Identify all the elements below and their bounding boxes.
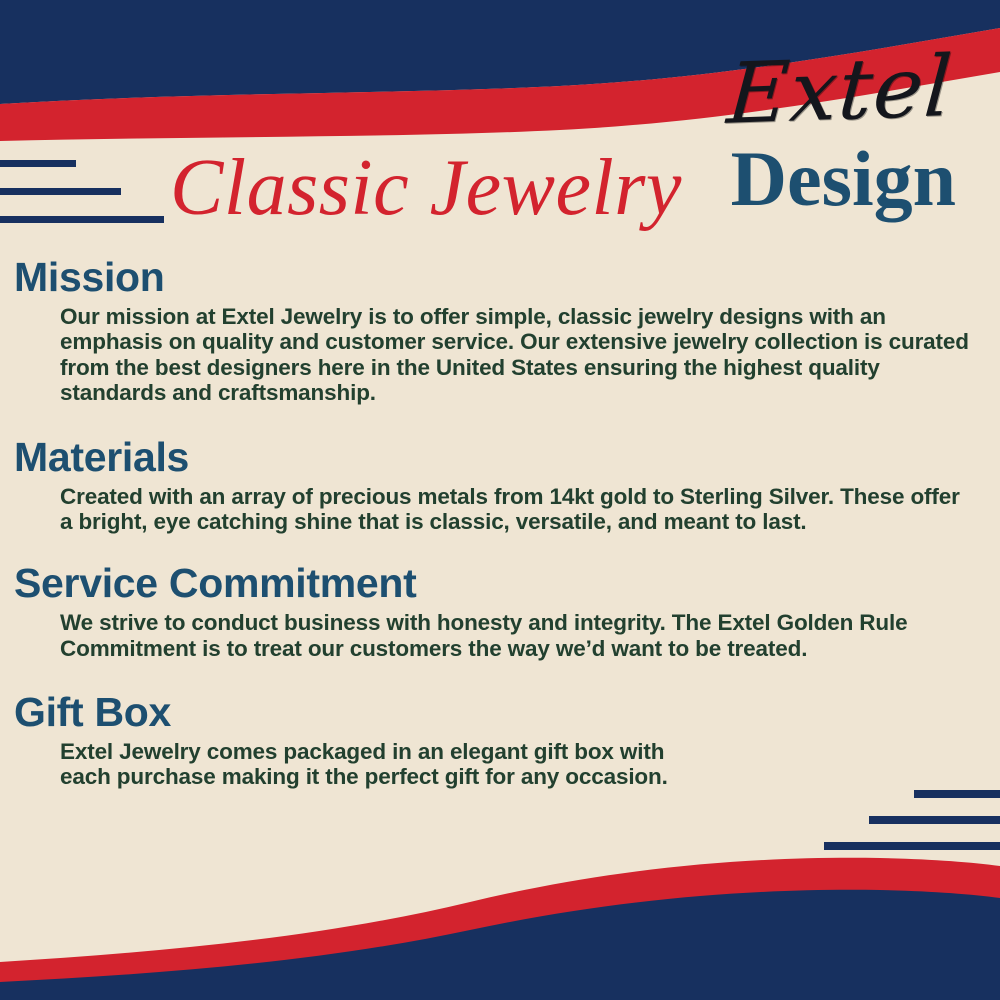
section-heading-gift-box: Gift Box [14, 690, 1000, 736]
section-heading-mission: Mission [14, 255, 1000, 301]
section-body-gift-box: Extel Jewelry comes packaged in an elega… [60, 739, 970, 790]
decorative-rule-6 [824, 842, 1000, 850]
decorative-rule-2 [0, 188, 121, 195]
poster-canvas: Extel Design Classic Jewelry Mission Our… [0, 0, 1000, 1000]
section-body-mission: Our mission at Extel Jewelry is to offer… [60, 304, 970, 406]
page-title: Classic Jewelry [170, 148, 682, 228]
section-gift-box: Gift Box Extel Jewelry comes packaged in… [0, 690, 1000, 790]
content-sections: Mission Our mission at Extel Jewelry is … [0, 255, 1000, 792]
brand-script-logo: Extel [725, 44, 956, 136]
section-heading-service-commitment: Service Commitment [14, 561, 1000, 607]
section-materials: Materials Created with an array of preci… [0, 435, 1000, 535]
section-heading-materials: Materials [14, 435, 1000, 481]
section-body-service-commitment: We strive to conduct business with hones… [60, 610, 970, 661]
decorative-rule-3 [0, 216, 164, 223]
section-service-commitment: Service Commitment We strive to conduct … [0, 561, 1000, 661]
decorative-rule-5 [869, 816, 1000, 824]
decorative-rule-1 [0, 160, 76, 167]
bottom-navy-wave [0, 890, 1000, 1000]
section-body-materials: Created with an array of precious metals… [60, 484, 970, 535]
brand-design-word: Design [731, 140, 956, 218]
decorative-rule-4 [914, 790, 1000, 798]
decorative-rules-right [800, 790, 1000, 868]
bottom-red-wave [0, 858, 1000, 1000]
section-mission: Mission Our mission at Extel Jewelry is … [0, 255, 1000, 406]
header: Extel Design Classic Jewelry [0, 0, 1000, 255]
